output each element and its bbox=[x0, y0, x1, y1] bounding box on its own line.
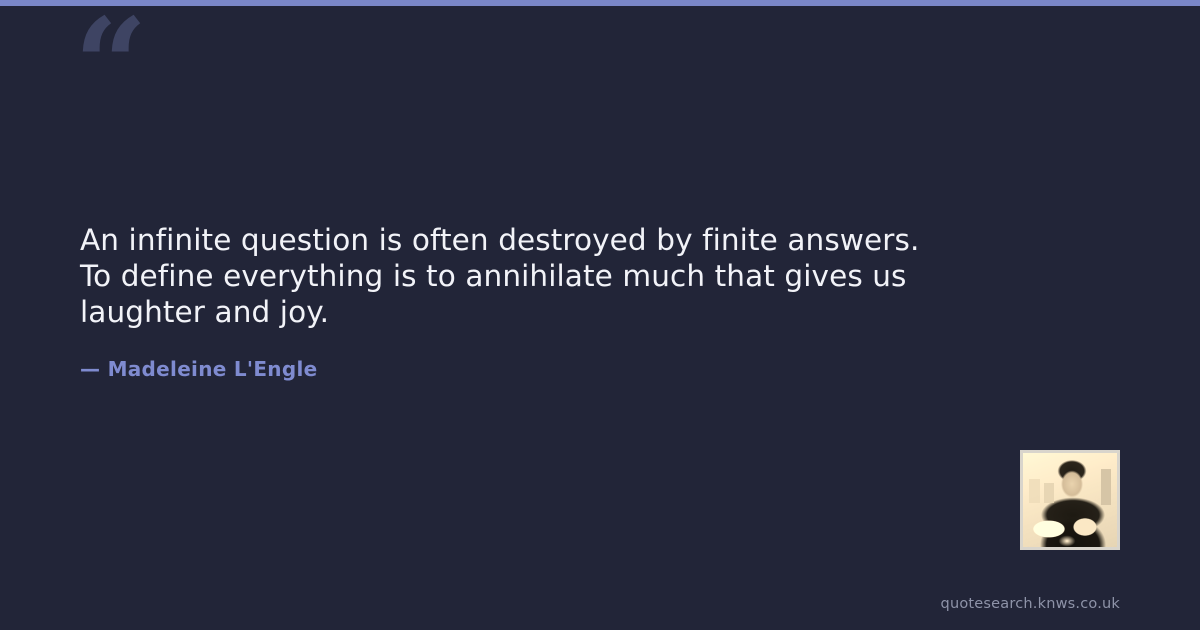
top-accent-bar bbox=[0, 0, 1200, 6]
quote-body: An infinite question is often destroyed … bbox=[80, 222, 1040, 330]
author-portrait bbox=[1020, 450, 1120, 550]
quote-attribution: — Madeleine L'Engle bbox=[80, 357, 318, 381]
quote-line: To define everything is to annihilate mu… bbox=[80, 258, 1040, 294]
author-portrait-image bbox=[1023, 453, 1117, 547]
quote-card: “ An infinite question is often destroye… bbox=[0, 0, 1200, 630]
opening-quote-mark-icon: “ bbox=[74, 2, 146, 130]
quote-line: An infinite question is often destroyed … bbox=[80, 222, 1040, 258]
source-url: quotesearch.knws.co.uk bbox=[941, 596, 1120, 612]
quote-line: laughter and joy. bbox=[80, 294, 1040, 330]
